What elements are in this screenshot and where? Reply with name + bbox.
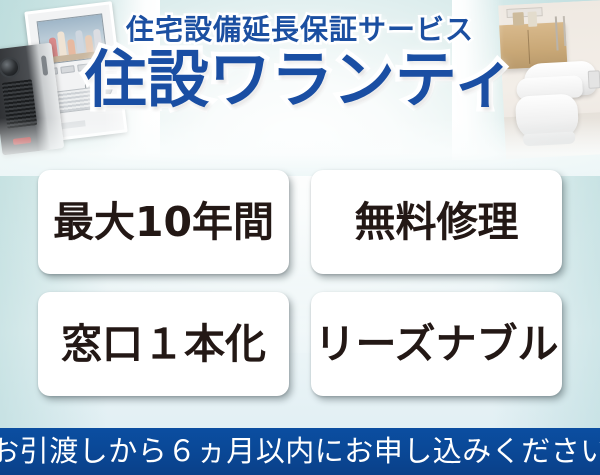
door-station-call-button [13,137,32,145]
warranty-promo-banner: 住宅設備延長保証サービス 住設ワランティ 最大10年間 無料修理 窓口１本化 リ… [0,0,600,475]
headline-block: 住宅設備延長保証サービス 住設ワランティ [0,16,600,111]
feature-label: 最大10年間 [53,202,274,243]
feature-label: 無料修理 [355,202,519,243]
service-subtitle: 住宅設備延長保証サービス [0,16,600,44]
feature-card-max-years: 最大10年間 [38,170,289,274]
application-deadline-text: お引渡しから６ヵ月以内にお申し込みください [0,437,600,466]
feature-label: リーズナブル [315,324,559,365]
application-deadline-bar: お引渡しから６ヵ月以内にお申し込みください [0,428,600,475]
feature-label: 窓口１本化 [61,324,266,365]
feature-card-free-repair: 無料修理 [311,170,562,274]
feature-card-reasonable: リーズナブル [311,292,562,396]
feature-card-grid: 最大10年間 無料修理 窓口１本化 リーズナブル [38,170,562,396]
service-title: 住設ワランティ [0,48,600,111]
feature-card-single-contact: 窓口１本化 [38,292,289,396]
